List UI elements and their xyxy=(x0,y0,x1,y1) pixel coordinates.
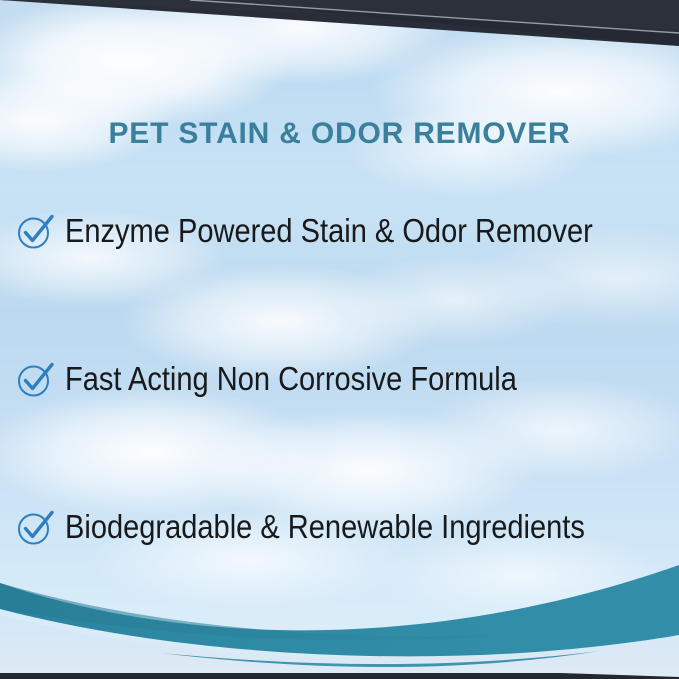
list-item-label: Biodegradable & Renewable Ingredients xyxy=(65,508,585,546)
list-item-label: Enzyme Powered Stain & Odor Remover xyxy=(65,212,593,250)
circled-check-icon xyxy=(15,211,55,251)
product-feature-panel: PET STAIN & ODOR REMOVER Enzyme Powered … xyxy=(0,0,679,679)
list-item-label: Fast Acting Non Corrosive Formula xyxy=(65,360,517,398)
circled-check-icon xyxy=(15,359,55,399)
list-item: Fast Acting Non Corrosive Formula xyxy=(0,351,679,407)
circled-check-icon xyxy=(15,507,55,547)
page-title: PET STAIN & ODOR REMOVER xyxy=(0,117,679,151)
bottom-dark-strip xyxy=(0,671,679,679)
list-item: Biodegradable & Renewable Ingredients xyxy=(0,499,679,555)
teal-wave-decoration xyxy=(0,549,679,679)
list-item: Enzyme Powered Stain & Odor Remover xyxy=(0,203,679,259)
